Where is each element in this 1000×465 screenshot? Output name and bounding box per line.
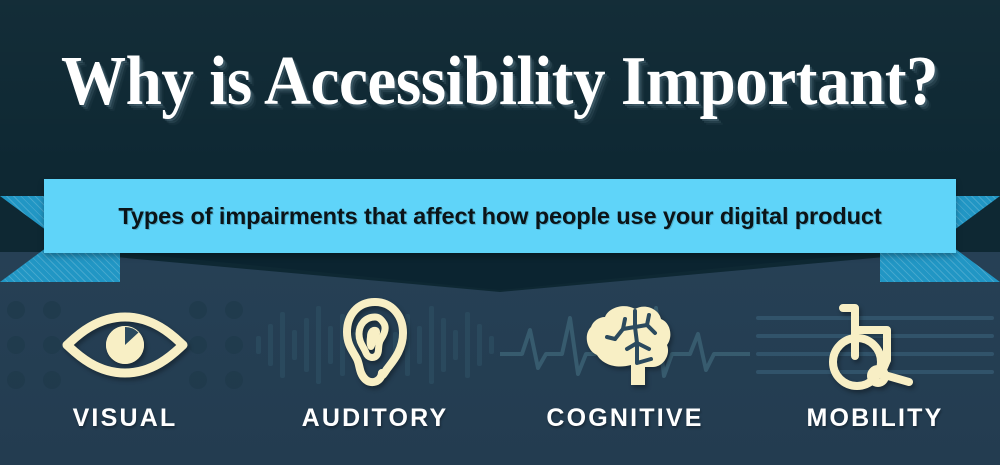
brain-icon bbox=[573, 299, 677, 391]
category-visual[interactable]: VISUAL bbox=[0, 296, 250, 465]
category-auditory[interactable]: AUDITORY bbox=[250, 296, 500, 465]
wheelchair-icon bbox=[825, 298, 925, 392]
auditory-icon-area bbox=[250, 296, 500, 394]
ear-icon bbox=[337, 297, 413, 393]
category-label-auditory: AUDITORY bbox=[302, 404, 449, 433]
page-title-container: Why is Accessibility Important? bbox=[0, 32, 1000, 132]
subtitle-text: Types of impairments that affect how peo… bbox=[118, 203, 881, 230]
category-row: VISUAL bbox=[0, 296, 1000, 465]
eye-icon bbox=[60, 308, 190, 382]
category-label-cognitive: COGNITIVE bbox=[546, 404, 703, 433]
visual-icon-area bbox=[0, 296, 250, 394]
category-label-visual: VISUAL bbox=[73, 404, 178, 433]
category-mobility[interactable]: MOBILITY bbox=[750, 296, 1000, 465]
category-label-mobility: MOBILITY bbox=[806, 404, 943, 433]
page-title: Why is Accessibility Important? bbox=[61, 42, 938, 122]
cognitive-icon-area bbox=[500, 296, 750, 394]
infographic-canvas: Why is Accessibility Important? Types of… bbox=[0, 0, 1000, 465]
category-cognitive[interactable]: COGNITIVE bbox=[500, 296, 750, 465]
subtitle-ribbon: Types of impairments that affect how peo… bbox=[44, 179, 956, 253]
mobility-icon-area bbox=[750, 296, 1000, 394]
